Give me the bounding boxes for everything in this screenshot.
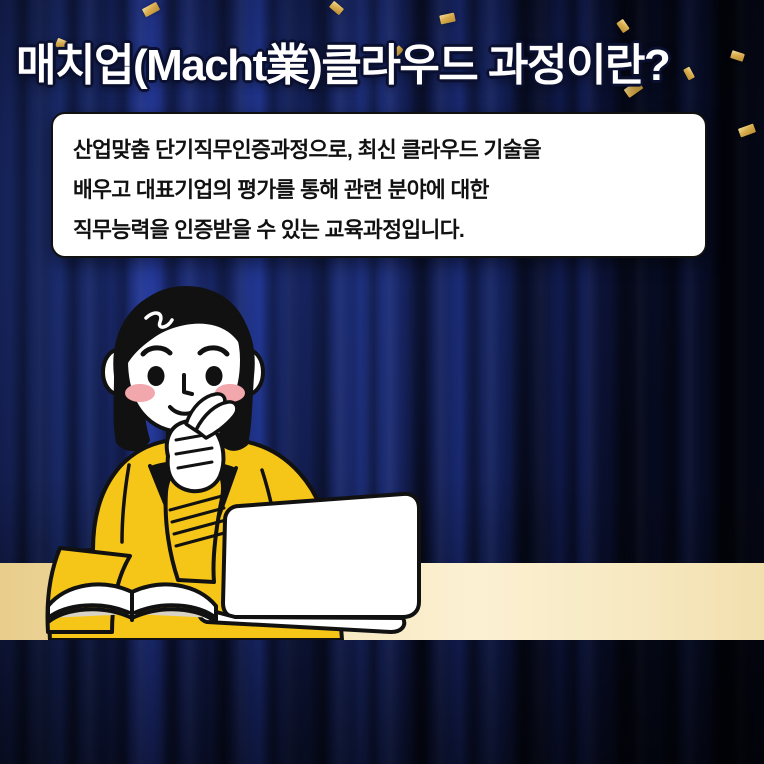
description-line-2: 배우고 대표기업의 평가를 통해 관련 분야에 대한 [73,170,685,210]
page-title: 매치업(Macht業)클라우드 과정이란? [16,36,756,96]
description-card: 산업맞춤 단기직무인증과정으로, 최신 클라우드 기술을 배우고 대표기업의 평… [51,112,707,258]
open-book [40,558,240,628]
laptop-screen [223,494,419,617]
slide-canvas: 매치업(Macht業)클라우드 과정이란? 산업맞춤 단기직무인증과정으로, 최… [0,0,764,764]
description-line-1: 산업맞춤 단기직무인증과정으로, 최신 클라우드 기술을 [73,130,685,170]
description-line-3: 직무능력을 인증받을 수 있는 교육과정입니다. [73,210,685,250]
